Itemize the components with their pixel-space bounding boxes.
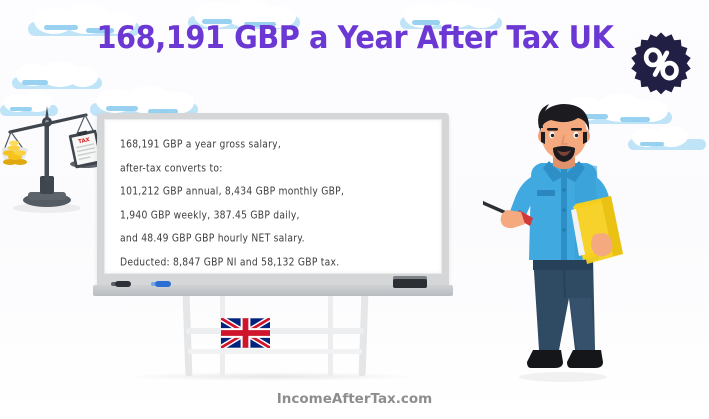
whiteboard-stand	[160, 294, 390, 376]
balance-scale-icon: TAX	[2, 104, 110, 216]
presenter-character	[483, 98, 648, 383]
whiteboard-line-5: and 48.49 GBP GBP hourly NET salary.	[120, 226, 432, 252]
whiteboard-line-1: 168,191 GBP a year gross salary,	[120, 132, 432, 158]
stand-rail-upper	[186, 328, 364, 334]
percent-badge-icon	[628, 31, 694, 97]
page-title-container: 168,191 GBP a Year After Tax UK	[0, 22, 709, 55]
whiteboard-line-2: after-tax converts to:	[120, 155, 432, 181]
whiteboard-text: 168,191 GBP a year gross salary, after-t…	[120, 133, 432, 274]
eraser-icon	[393, 279, 427, 288]
poster-canvas: 168,191 GBP a Year After Tax UK	[0, 0, 709, 419]
whiteboard-line-6: Deducted: 8,847 GBP NI and 58,132 GBP ta…	[120, 249, 432, 275]
whiteboard-line-4: 1,940 GBP weekly, 387.45 GBP daily,	[120, 202, 432, 228]
stand-leg-right	[359, 294, 369, 376]
footer-site-name: IncomeAfterTax.com	[277, 391, 432, 407]
stand-leg-left	[183, 294, 193, 376]
whiteboard: 168,191 GBP a year gross salary, after-t…	[97, 113, 449, 288]
whiteboard-surface: 168,191 GBP a year gross salary, after-t…	[104, 119, 442, 274]
united-kingdom-flag-icon	[221, 318, 270, 348]
whiteboard-line-3: 101,212 GBP annual, 8,434 GBP monthly GB…	[120, 179, 432, 205]
page-title: 168,191 GBP a Year After Tax UK	[96, 22, 613, 55]
footer: IncomeAfterTax.com	[0, 390, 709, 408]
black-marker-icon	[115, 281, 131, 287]
stand-leg-inner-right	[328, 294, 333, 376]
blue-marker-icon	[155, 281, 171, 287]
whiteboard-tray	[93, 285, 453, 296]
stand-rail-lower	[188, 349, 362, 354]
